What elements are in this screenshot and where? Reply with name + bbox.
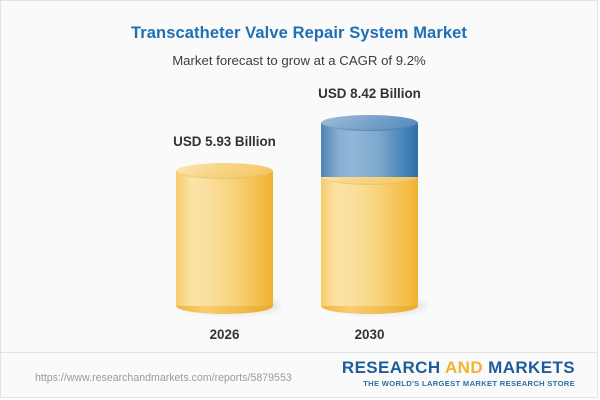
cylinder-segment-blue-2030 bbox=[321, 123, 418, 177]
brand-logo[interactable]: RESEARCH AND MARKETS THE WORLD'S LARGEST… bbox=[342, 359, 575, 388]
brand-logo-tagline: THE WORLD'S LARGEST MARKET RESEARCH STOR… bbox=[342, 379, 575, 388]
cylinder-segment-yellow-2030 bbox=[321, 177, 418, 306]
bar-category-label-2026: 2026 bbox=[210, 327, 240, 342]
brand-logo-research: RESEARCH bbox=[342, 358, 445, 377]
cylinder-2026 bbox=[176, 171, 273, 306]
cylinder-cap-yellow-2026 bbox=[176, 163, 273, 179]
bar-group-2026: USD 5.93 Billion 2026 bbox=[176, 171, 273, 306]
bar-value-label-2030: USD 8.42 Billion bbox=[318, 86, 421, 101]
cylinder-cap-blue-2030 bbox=[321, 115, 418, 131]
brand-logo-and: AND bbox=[445, 358, 483, 377]
cylinder-body-yellow-2026 bbox=[176, 171, 273, 306]
footer-divider bbox=[1, 352, 597, 353]
infographic-card: Transcatheter Valve Repair System Market… bbox=[0, 0, 598, 398]
chart-plot-area: USD 5.93 Billion 2026 USD 8.42 Billion bbox=[1, 1, 598, 351]
brand-logo-wordmark: RESEARCH AND MARKETS bbox=[342, 359, 575, 377]
bar-group-2030: USD 8.42 Billion 2030 bbox=[321, 123, 418, 306]
cylinder-2030 bbox=[321, 123, 418, 306]
brand-logo-markets: MARKETS bbox=[483, 358, 575, 377]
bar-value-label-2026: USD 5.93 Billion bbox=[173, 134, 276, 149]
report-url[interactable]: https://www.researchandmarkets.com/repor… bbox=[35, 372, 292, 384]
bar-category-label-2030: 2030 bbox=[355, 327, 385, 342]
